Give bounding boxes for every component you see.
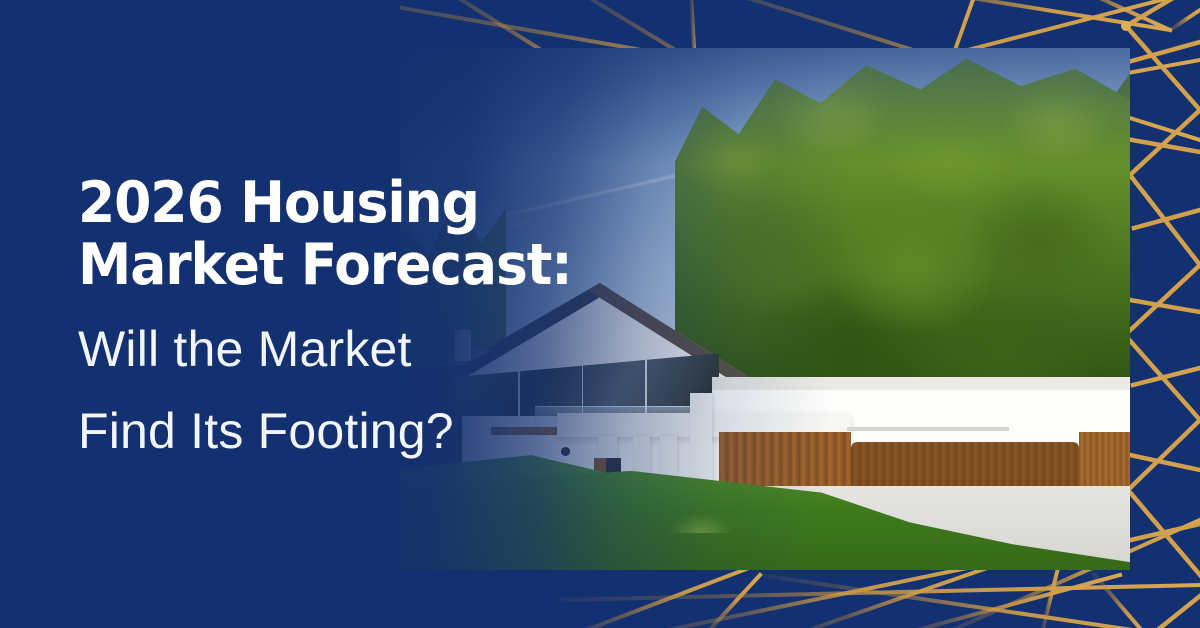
headline-line-1: 2026 Housing [78,172,680,234]
headline-line-2: Market Forecast: [78,234,680,296]
subheadline-line-2: Find Its Footing? [78,402,718,460]
marketing-banner: 2026 Housing Market Forecast: Will the M… [0,0,1200,628]
banner-text-block: 2026 Housing Market Forecast: Will the M… [78,172,718,460]
subheadline-line-1: Will the Market [78,320,718,378]
